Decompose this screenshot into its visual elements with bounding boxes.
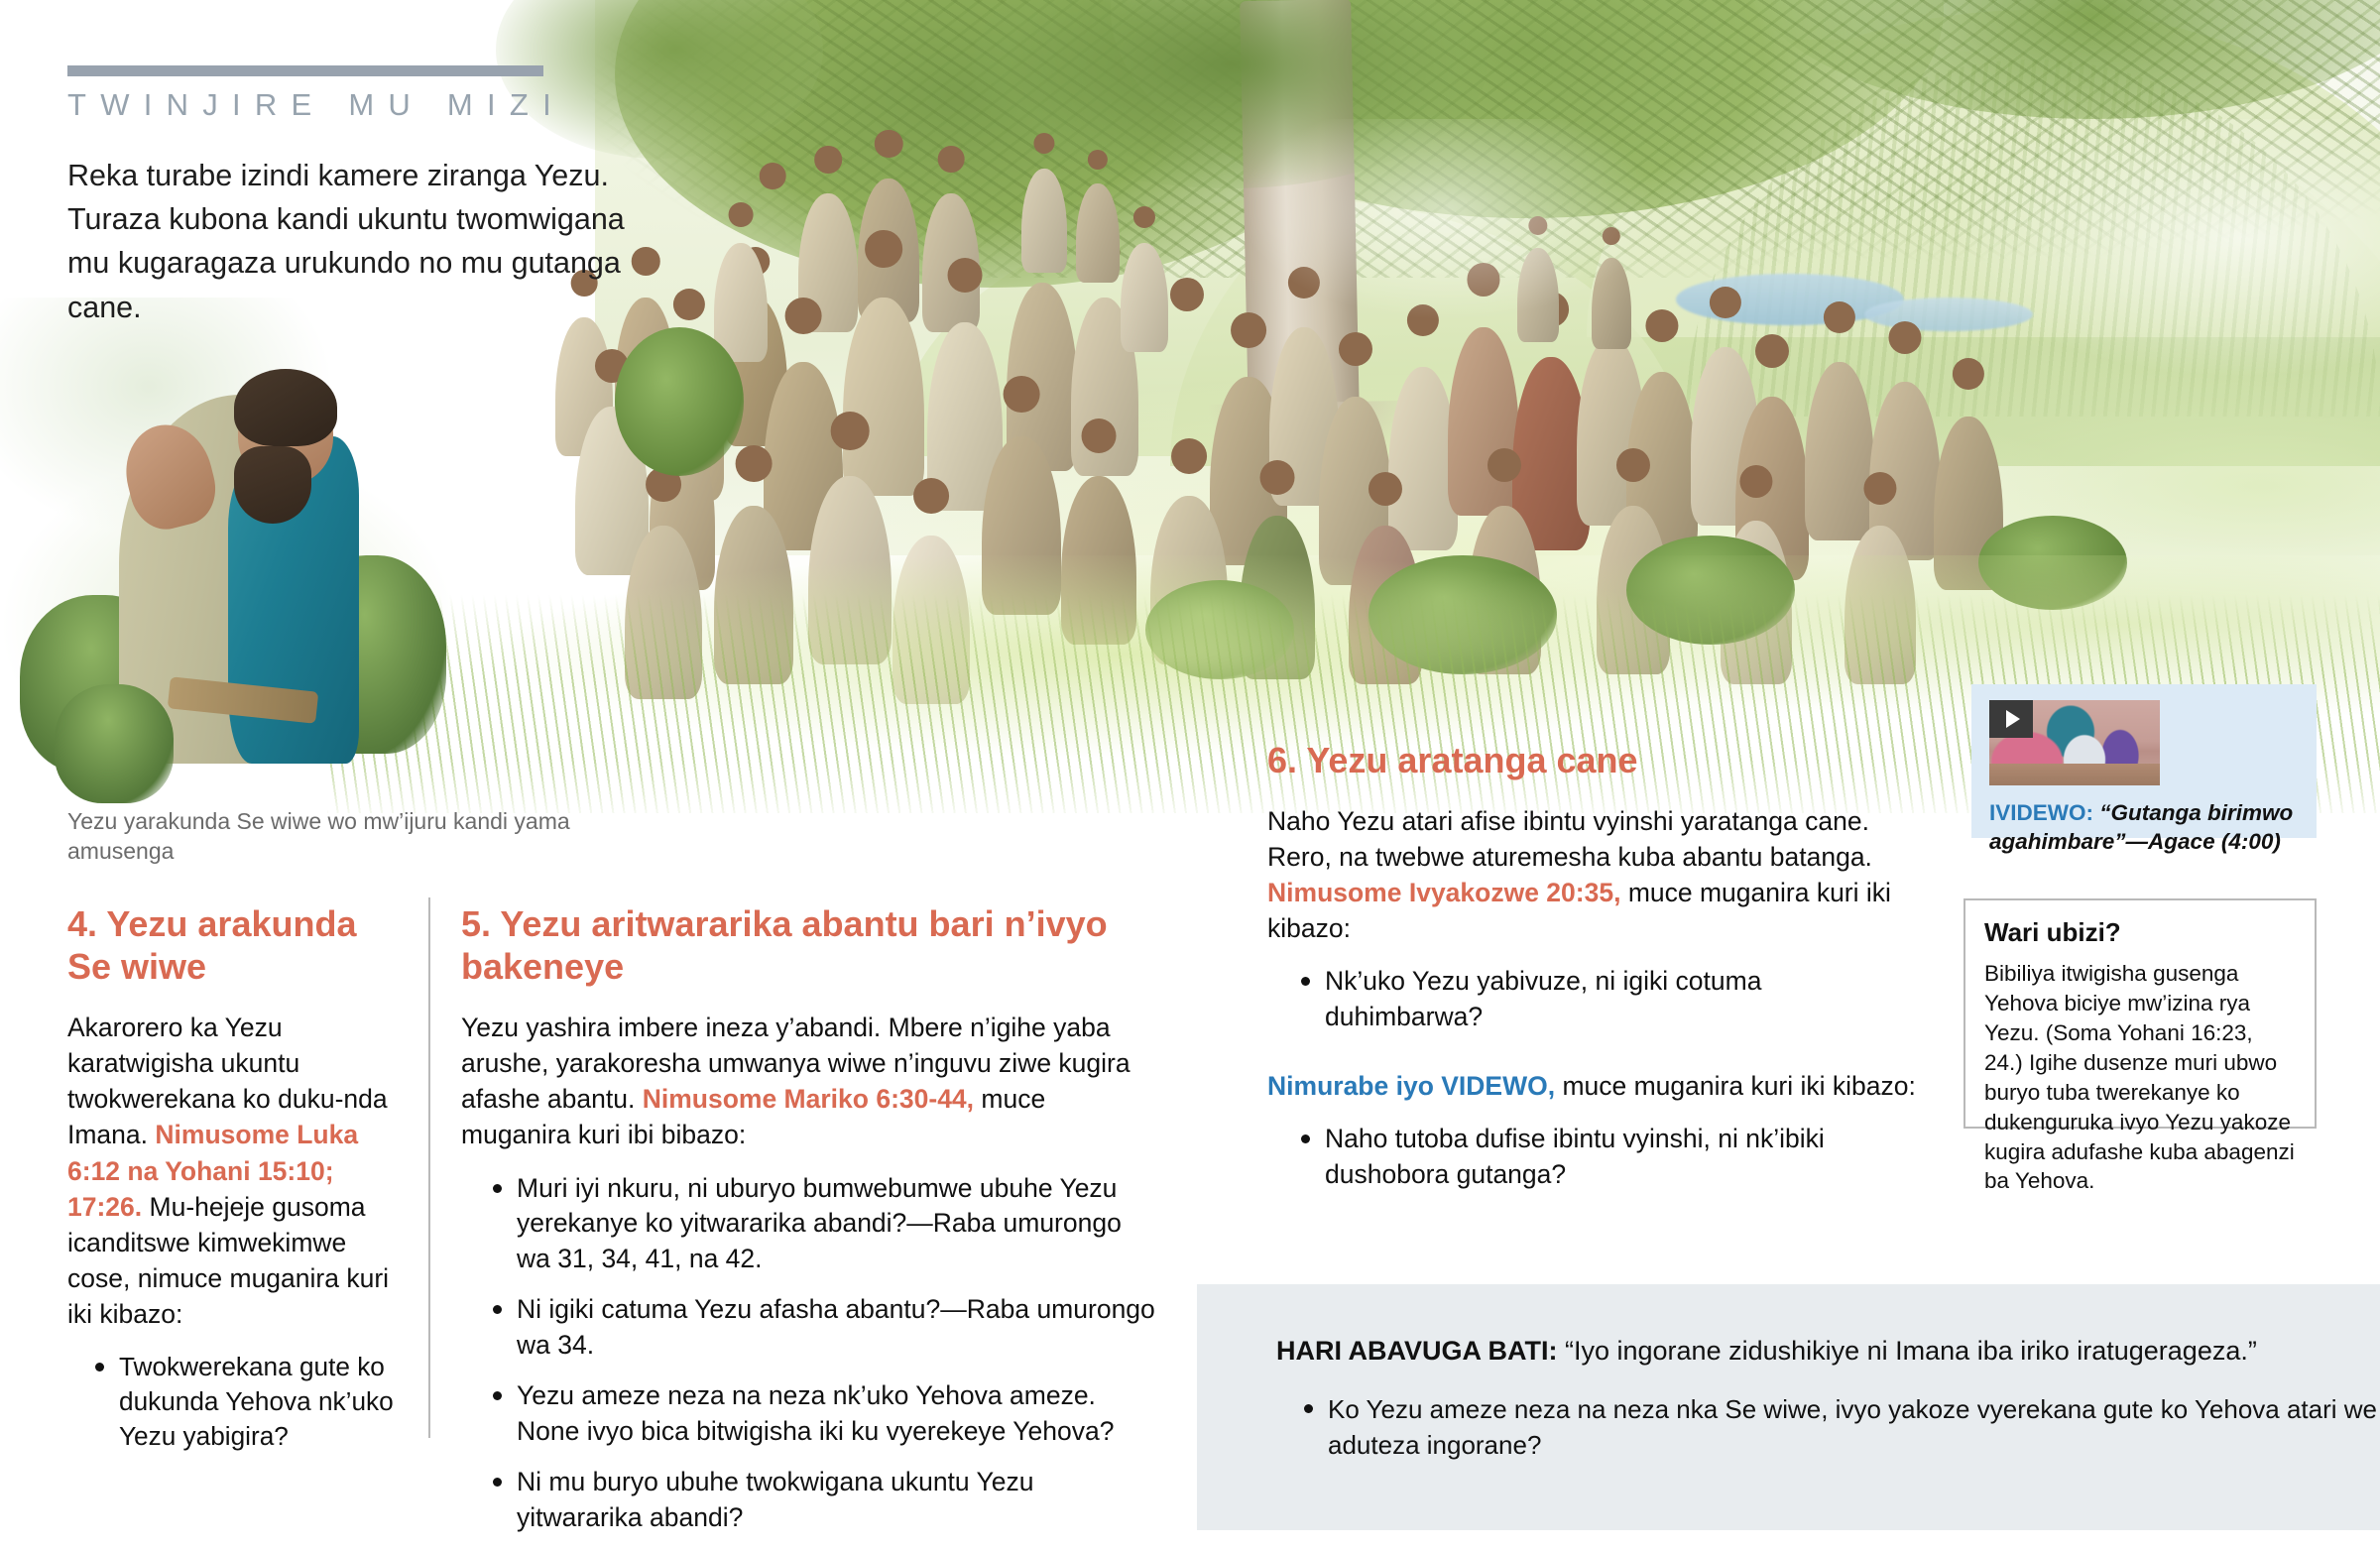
- column-divider: [428, 897, 430, 1438]
- list-item: Muri iyi nkuru, ni uburyo bumwebumwe ubu…: [487, 1171, 1155, 1277]
- video-prompt-rest: muce muganira kuri iki kibazo:: [1555, 1071, 1916, 1101]
- section-6-heading: 6. Yezu aratanga cane: [1267, 739, 1922, 781]
- list-item: Ko Yezu ameze neza na neza nka Se wiwe, …: [1300, 1392, 2380, 1464]
- list-item: Ni mu buryo ubuhe twokwigana ukuntu Yezu…: [487, 1465, 1155, 1535]
- say-box-label: HARI ABAVUGA BATI:: [1276, 1336, 1557, 1366]
- say-box-quote: “Iyo ingorane zidushikiye ni Imana iba i…: [1557, 1336, 2256, 1366]
- section-4-body: Akarorero ka Yezu karatwigisha ukuntu tw…: [67, 1010, 400, 1331]
- jesus-hair: [234, 369, 337, 446]
- section-5-question-list: Muri iyi nkuru, ni uburyo bumwebumwe ubu…: [487, 1171, 1155, 1536]
- list-item: Nk’uko Yezu yabivuze, ni igiki cotuma du…: [1295, 964, 1922, 1034]
- did-you-know-heading: Wari ubizi?: [1984, 917, 2296, 948]
- section-6-scripture-link[interactable]: Nimusome Ivyakozwe 20:35,: [1267, 878, 1620, 907]
- say-box-header: HARI ABAVUGA BATI: “Iyo ingorane zidushi…: [1276, 1333, 2380, 1369]
- section-4-question-list: Twokwerekana gute ko dukunda Yehova nk’u…: [89, 1350, 400, 1454]
- study-article-page: TWINJIRE MU MIZI Reka turabe izindi kame…: [0, 0, 2380, 1530]
- section-5-heading: 5. Yezu aritwararika abantu bari n’ivyo …: [461, 902, 1155, 988]
- video-label: IVIDEWO:: [1989, 800, 2093, 825]
- play-icon[interactable]: [1989, 700, 2033, 738]
- section-6: 6. Yezu aratanga cane Naho Yezu atari af…: [1267, 739, 1922, 1208]
- section-6-body: Naho Yezu atari afise ibintu vyinshi yar…: [1267, 803, 1922, 946]
- section-6-video-question-list: Naho tutoba dufise ibintu vyinshi, ni nk…: [1295, 1122, 1922, 1192]
- section-5-body: Yezu yashira imbere ineza y’abandi. Mber…: [461, 1010, 1155, 1152]
- section-5-scripture-link[interactable]: Nimusome Mariko 6:30-44,: [643, 1084, 974, 1114]
- video-card[interactable]: IVIDEWO: “Gutanga birimwo agahimbare”—Ag…: [1971, 684, 2317, 838]
- some-people-say-box: HARI ABAVUGA BATI: “Iyo ingorane zidushi…: [1197, 1284, 2380, 1530]
- video-caption: IVIDEWO: “Gutanga birimwo agahimbare”—Ag…: [1989, 798, 2299, 857]
- section-6-question-list: Nk’uko Yezu yabivuze, ni igiki cotuma du…: [1295, 964, 1922, 1034]
- list-item: Naho tutoba dufise ibintu vyinshi, ni nk…: [1295, 1122, 1922, 1192]
- video-thumbnail[interactable]: [1989, 700, 2160, 785]
- did-you-know-body: Bibiliya itwigisha gusenga Yehova biciye…: [1984, 959, 2296, 1196]
- vignette-shrub-bottom: [55, 684, 174, 803]
- did-you-know-box: Wari ubizi? Bibiliya itwigisha gusenga Y…: [1963, 898, 2317, 1129]
- intro-paragraph: Reka turabe izindi kamere ziranga Yezu. …: [67, 154, 662, 329]
- list-item: Yezu ameze neza na neza nk’uko Yehova am…: [487, 1378, 1155, 1449]
- thumbnail-floor: [1989, 764, 2160, 785]
- shrub-far-left: [615, 327, 744, 476]
- list-item: Ni igiki catuma Yezu afasha abantu?—Raba…: [487, 1292, 1155, 1363]
- section-5: 5. Yezu aritwararika abantu bari n’ivyo …: [461, 902, 1155, 1551]
- say-box-question-list: Ko Yezu ameze neza na neza nka Se wiwe, …: [1300, 1392, 2380, 1464]
- series-kicker: TWINJIRE MU MIZI: [67, 87, 565, 123]
- section-6-video-prompt: Nimurabe iyo VIDEWO, muce muganira kuri …: [1267, 1068, 1922, 1104]
- jesus-beard: [234, 446, 311, 524]
- illustration-caption: Yezu yarakunda Se wiwe wo mw’ijuru kandi…: [67, 806, 623, 867]
- header-rule: [67, 65, 543, 76]
- section-4: 4. Yezu arakunda Se wiwe Akarorero ka Ye…: [67, 902, 400, 1470]
- section-6-body-part1: Naho Yezu atari afise ibintu vyinshi yar…: [1267, 806, 1872, 872]
- section-4-heading: 4. Yezu arakunda Se wiwe: [67, 902, 400, 988]
- list-item: Twokwerekana gute ko dukunda Yehova nk’u…: [89, 1350, 400, 1454]
- video-prompt-link[interactable]: Nimurabe iyo VIDEWO,: [1267, 1071, 1555, 1101]
